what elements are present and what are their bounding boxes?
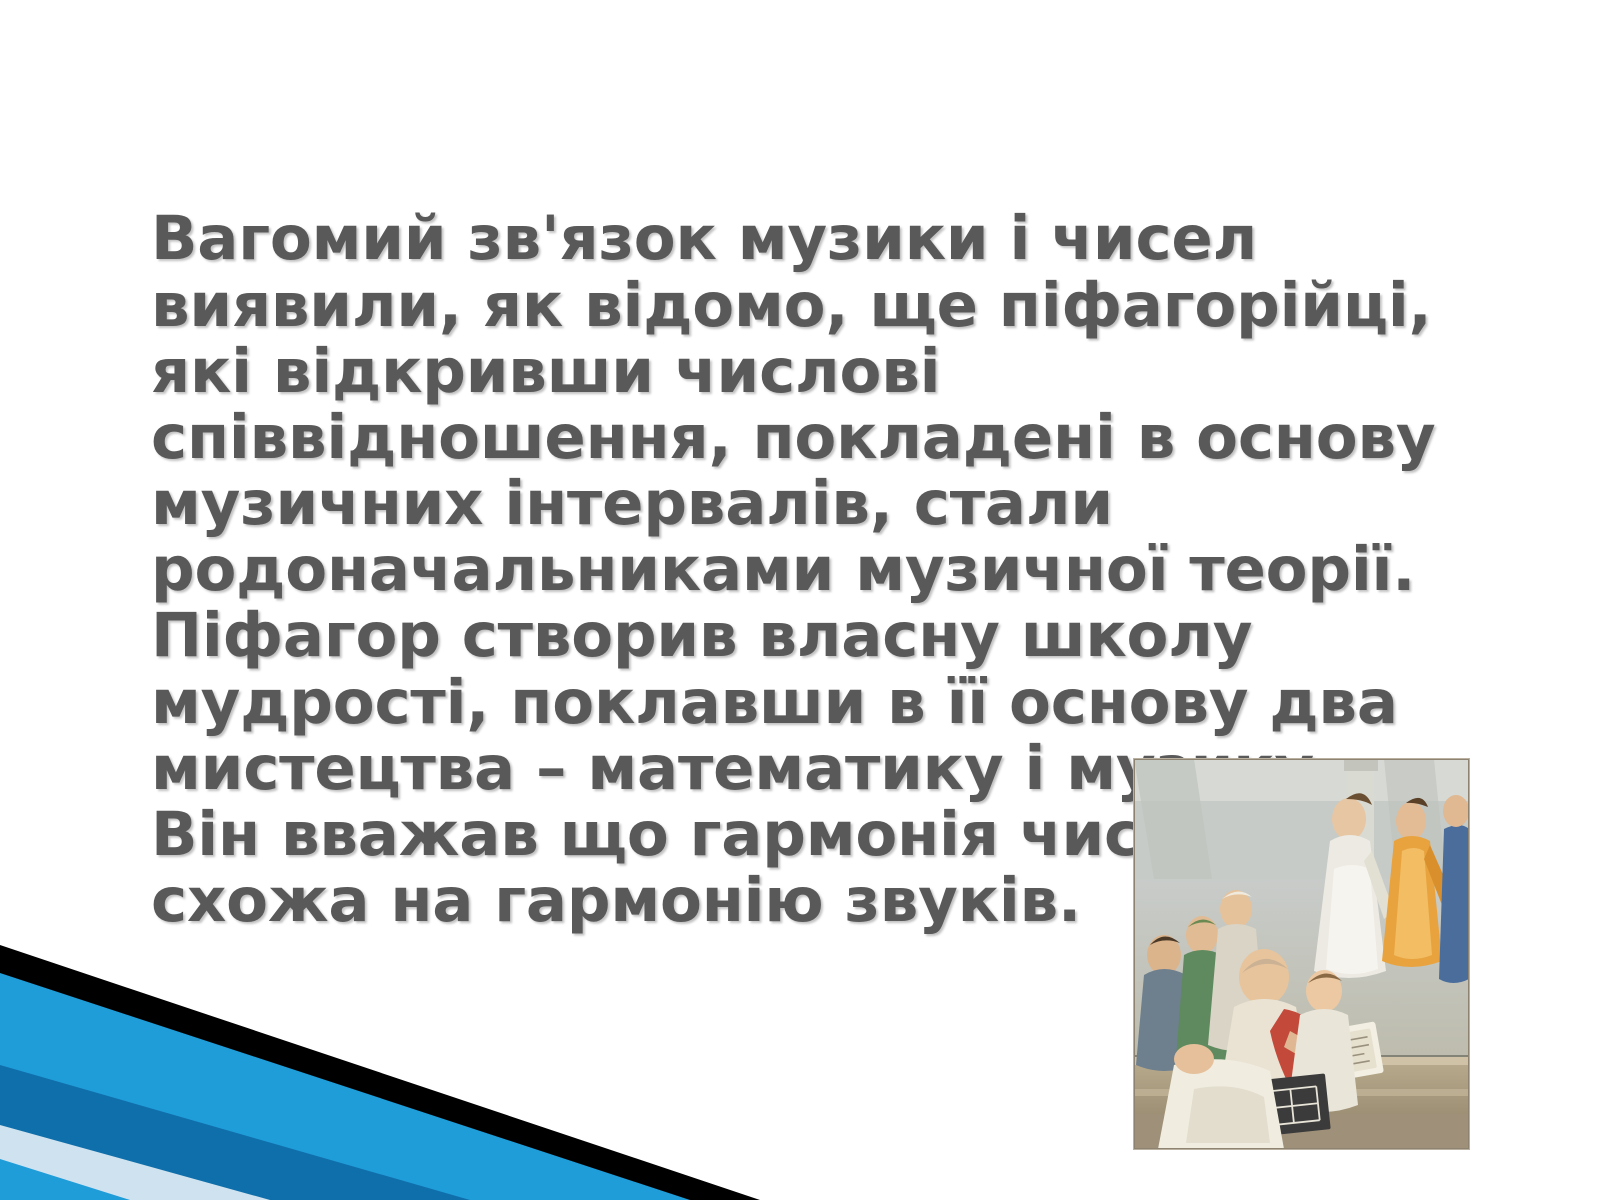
decor-blue-accent <box>0 1159 130 1200</box>
slide-canvas: Вагомий зв'язок музики і чисел виявили, … <box>0 0 1600 1200</box>
decor-lightblue-triangle <box>0 1125 270 1200</box>
school-of-athens-illustration <box>1134 759 1469 1149</box>
decor-darkblue-triangle <box>0 1065 470 1200</box>
school-of-athens-image <box>1133 758 1470 1150</box>
